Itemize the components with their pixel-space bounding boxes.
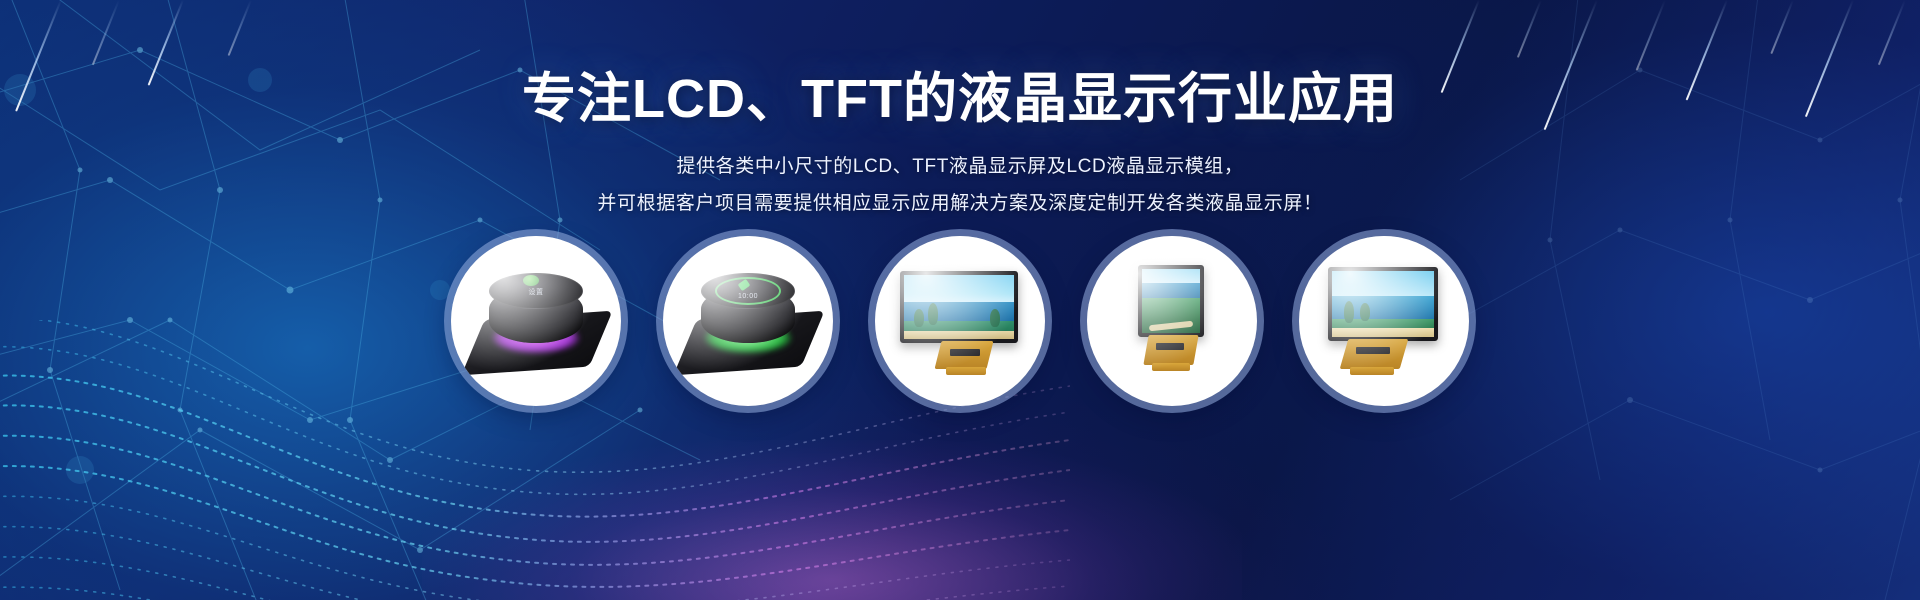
speaker-app-badge-icon	[523, 275, 539, 286]
banner-subtitle: 提供各类中小尺寸的LCD、TFT液晶显示屏及LCD液晶显示模组， 并可根据客户项…	[0, 148, 1920, 222]
driver-chip	[1156, 343, 1184, 350]
product-circle-tft-landscape[interactable]	[875, 236, 1045, 406]
scene-tree	[928, 303, 938, 325]
tft-lcd-landscape-image	[894, 257, 1026, 385]
smart-speaker-purple-image: 设置	[461, 261, 611, 381]
smart-speaker-green-image: 10:00	[673, 261, 823, 381]
lcd-screen-display	[900, 271, 1018, 343]
connector	[1350, 367, 1394, 375]
product-circle-smart-speaker-purple[interactable]: 设置	[451, 236, 621, 406]
bottom-glow-decoration	[422, 440, 1242, 600]
tft-lcd-wide-image	[1318, 257, 1450, 385]
scene-tree	[1344, 301, 1354, 323]
tft-lcd-portrait-image	[1106, 257, 1238, 385]
lcd-screen-display	[1138, 265, 1204, 337]
page-title: 专注LCD、TFT的液晶显示行业应用	[0, 70, 1920, 128]
connector	[1152, 363, 1190, 371]
lcd-screen-display	[1328, 267, 1438, 341]
product-circle-tft-portrait[interactable]	[1087, 236, 1257, 406]
scene-tree	[1360, 303, 1370, 321]
flex-cable	[1143, 335, 1198, 365]
scene-sky	[904, 275, 1014, 302]
product-showcase-row: 设置 10:00	[0, 236, 1920, 406]
scene-tree	[990, 309, 1000, 327]
flex-cable	[1340, 339, 1409, 369]
hero-banner: 专注LCD、TFT的液晶显示行业应用 提供各类中小尺寸的LCD、TFT液晶显示屏…	[0, 0, 1920, 600]
scene-sky	[1142, 269, 1200, 283]
speaker-screen-label: 10:00	[701, 293, 795, 300]
subtitle-line-2: 并可根据客户项目需要提供相应显示应用解决方案及深度定制开发各类液晶显示屏！	[0, 185, 1920, 222]
product-circle-smart-speaker-green[interactable]: 10:00	[663, 236, 833, 406]
scene-sand	[904, 331, 1014, 339]
driver-chip	[1356, 347, 1390, 354]
scene-sky	[1332, 271, 1434, 296]
scene-sand	[1332, 328, 1434, 337]
scene-sea	[1142, 283, 1200, 298]
connector	[946, 367, 986, 375]
banner-text-block: 专注LCD、TFT的液晶显示行业应用 提供各类中小尺寸的LCD、TFT液晶显示屏…	[0, 0, 1920, 222]
subtitle-line-1: 提供各类中小尺寸的LCD、TFT液晶显示屏及LCD液晶显示模组，	[0, 148, 1920, 185]
driver-chip	[950, 349, 980, 356]
speaker-screen-label: 设置	[489, 287, 583, 297]
scene-tree	[914, 309, 924, 327]
product-circle-tft-wide[interactable]	[1299, 236, 1469, 406]
